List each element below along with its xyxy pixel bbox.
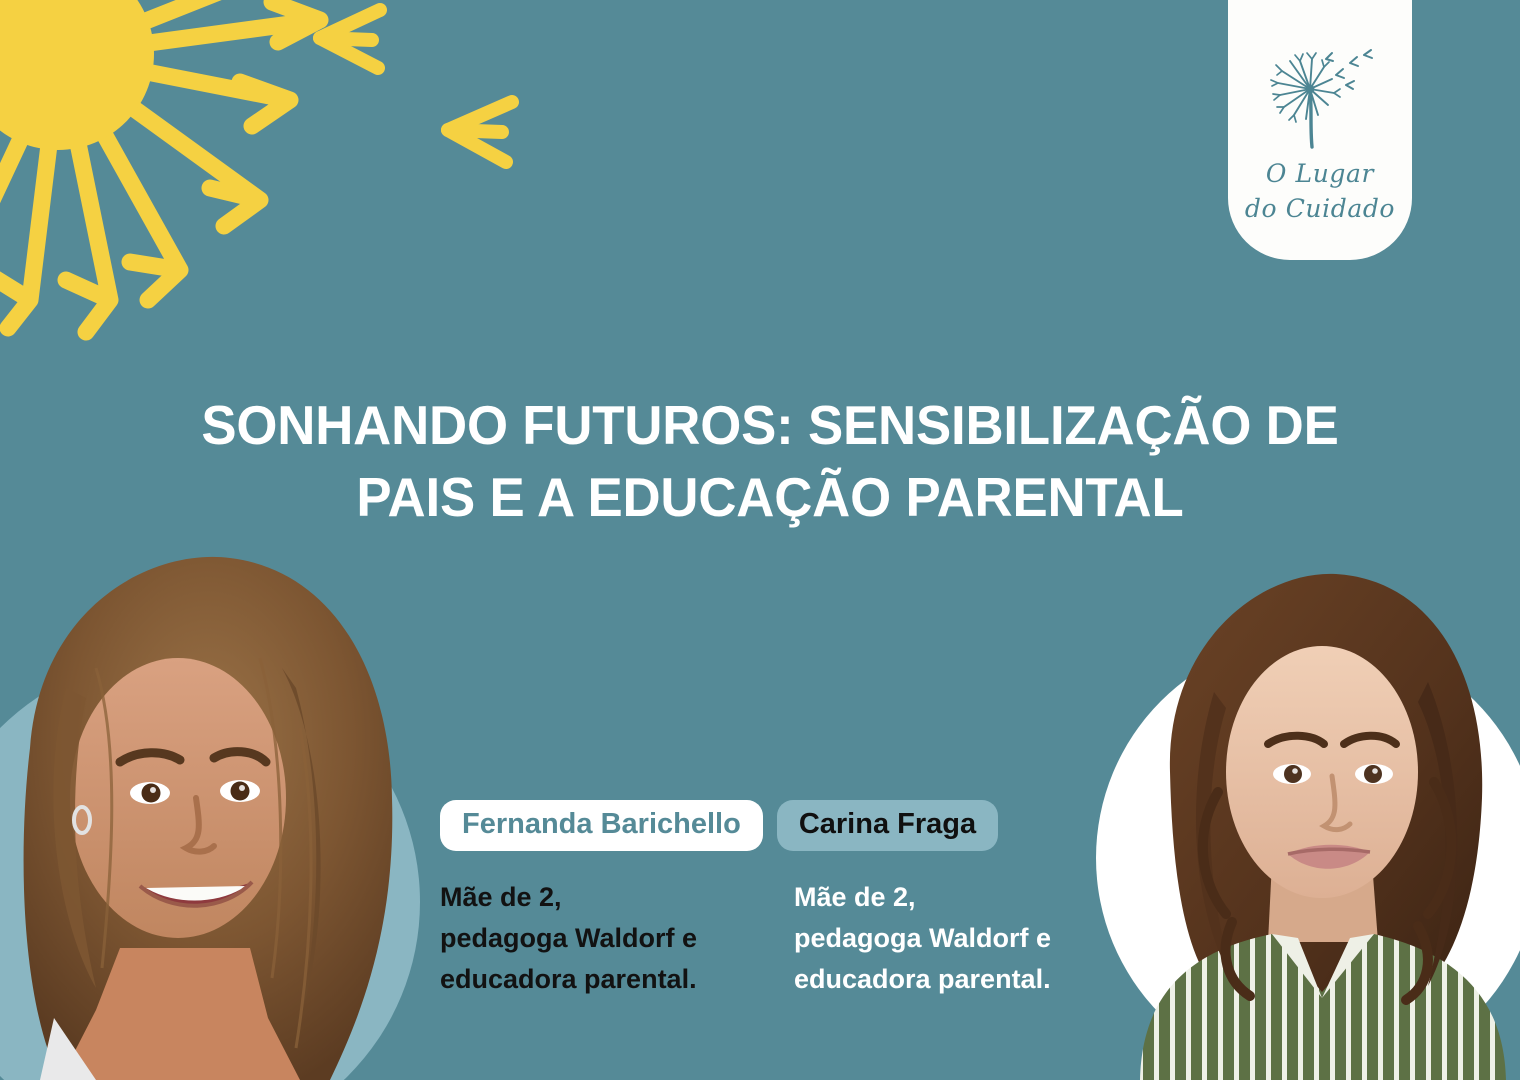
speaker-photo-carina	[1090, 548, 1520, 1080]
speaker-badges: Fernanda Barichello Carina Fraga	[440, 800, 1130, 851]
speaker-badge-carina[interactable]: Carina Fraga	[777, 800, 998, 851]
speaker-portrait-left	[0, 548, 412, 1080]
flying-seeds-icon	[260, 0, 540, 190]
speaker-bios: Mãe de 2, pedagoga Waldorf e educadora p…	[440, 877, 1130, 1000]
speaker-portrait-right	[1122, 562, 1520, 1080]
speaker-badge-fernanda[interactable]: Fernanda Barichello	[440, 800, 763, 851]
dandelion-sun-icon	[0, 0, 500, 430]
slide-canvas: O Lugar do Cuidado SONHANDO FUTUROS: SEN…	[0, 0, 1520, 1080]
logo-wordmark: O Lugar do Cuidado	[1245, 157, 1395, 226]
speaker-bio-carina: Mãe de 2, pedagoga Waldorf e educadora p…	[794, 877, 1130, 1000]
dandelion-icon	[1260, 41, 1380, 153]
speakers-block: Fernanda Barichello Carina Fraga Mãe de …	[440, 800, 1130, 1000]
speaker-bio-fernanda: Mãe de 2, pedagoga Waldorf e educadora p…	[440, 877, 776, 1000]
page-title: SONHANDO FUTUROS: SENSIBILIZAÇÃO DE PAIS…	[127, 389, 1413, 534]
brand-logo-card: O Lugar do Cuidado	[1228, 0, 1412, 260]
speaker-photo-fernanda	[0, 548, 424, 1080]
